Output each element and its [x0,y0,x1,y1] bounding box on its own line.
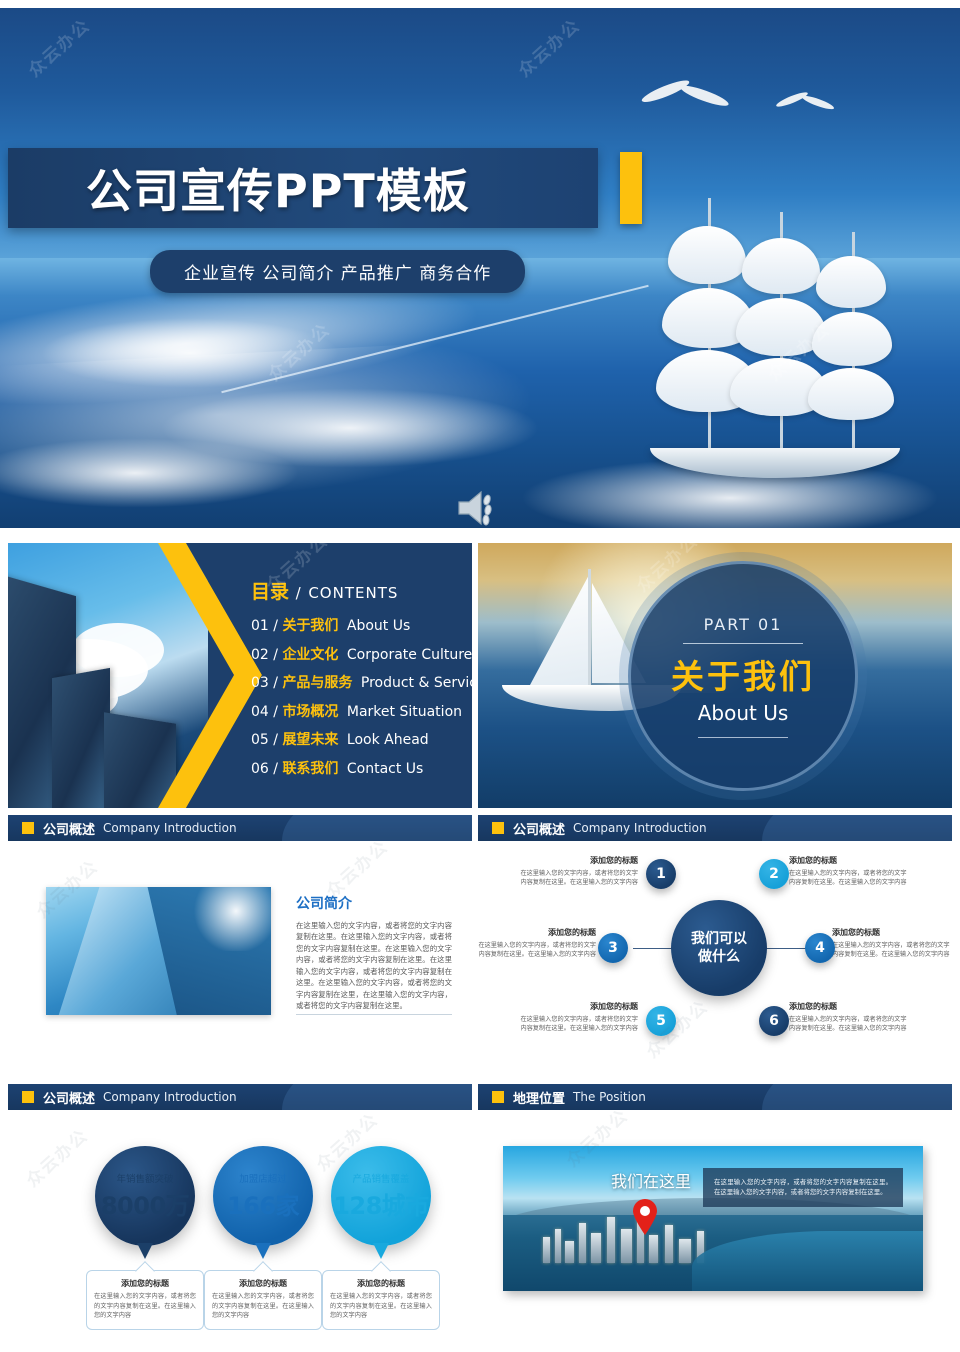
diagram-node-5[interactable]: 5 [646,1006,676,1036]
wave-foam [40,318,340,388]
slide-company-introduction: 公司概述 Company Introduction 公司简介 在这里输入您的文字… [8,815,472,1080]
wave-foam [0,438,300,508]
title-accent-bar [620,152,642,224]
diagram-node-6[interactable]: 6 [759,1006,789,1036]
contents-heading-en: CONTENTS [308,584,398,602]
connector-line [633,948,675,949]
contents-item-6[interactable]: 06 / 联系我们 Contact Us [251,758,472,778]
part-title-cn: 关于我们 [671,650,815,698]
city-aerial-photo: 我们在这里 在这里输入您的文字内容，或者将您的文字内容复制在这里。在这里输入您的… [503,1146,923,1291]
speaker-icon[interactable] [455,488,499,528]
building-photo [46,887,271,1015]
slide-title: 公司宣传PPT模板 企业宣传 公司简介 产品推广 商务合作 众云办公 众云办公 … [0,8,960,528]
diagram-hub: 我们可以 做什么 [671,900,767,996]
diagram-node-4[interactable]: 4 [805,933,835,963]
company-intro-body: 在这里输入您的文字内容，或者将您的文字内容复制在这里。在这里输入您的文字内容，或… [296,920,452,1012]
stat-bubble: 产品销售覆盖 128城市 [331,1146,431,1246]
part-badge: PART 01 关于我们 About Us [628,561,858,791]
map-pin-icon[interactable] [631,1198,659,1236]
header-square-icon [492,822,504,834]
contents-heading: 目录 / CONTENTS [251,577,472,604]
header-title-cn: 公司概述 [43,1088,95,1107]
header-square-icon [22,1091,34,1103]
part-title-en: About Us [698,701,789,725]
diagram-label-6: 添加您的标题 在这里输入您的文字内容，或者将您的文字内容复制在这里。在这里输入您… [789,1001,907,1034]
title-banner: 公司宣传PPT模板 [8,148,598,228]
contents-heading-cn: 目录 [251,581,289,603]
contents-heading-sep: / [296,584,302,602]
section-header-company-stats: 公司概述 Company Introduction [8,1084,472,1110]
company-intro-text: 公司简介 在这里输入您的文字内容，或者将您的文字内容复制在这里。在这里输入您的文… [296,893,452,1012]
hub-line-1: 我们可以 [691,930,747,948]
page-title: 公司宣传PPT模板 [86,155,470,221]
divider [698,737,788,738]
header-title-en: The Position [573,1090,646,1104]
header-title-en: Company Introduction [103,1090,237,1104]
contents-item-3[interactable]: 03 / 产品与服务 Product & Service [251,672,472,692]
divider [296,1014,452,1015]
hub-line-2: 做什么 [698,948,740,966]
contents-item-4[interactable]: 04 / 市场概况 Market Situation [251,701,472,721]
diagram-label-5: 添加您的标题 在这里输入您的文字内容，或者将您的文字内容复制在这里。在这里输入您… [520,1001,638,1034]
diagram-node-3[interactable]: 3 [598,933,628,963]
contents-item-1[interactable]: 01 / 关于我们 About Us [251,615,472,635]
stat-bubble: 年销售额突破 8000万 [95,1146,195,1246]
section-header-company-diagram: 公司概述 Company Introduction [478,815,952,841]
diagram-label-2: 添加您的标题 在这里输入您的文字内容，或者将您的文字内容复制在这里。在这里输入您… [789,855,907,888]
part-number: PART 01 [704,615,783,634]
slide-part-01: PART 01 关于我们 About Us 众云办公 [478,543,952,808]
diagram-label-3: 添加您的标题 在这里输入您的文字内容，或者将您的文字内容复制在这里。在这里输入您… [478,927,596,960]
map-note: 在这里输入您的文字内容，或者将您的文字内容复制在这里。在这里输入您的文字内容，或… [703,1168,903,1207]
diagram-node-1[interactable]: 1 [646,859,676,889]
connector-line [764,948,808,949]
stat-note: 添加您的标题 在这里输入您的文字内容，或者将您的文字内容复制在这里。在这里输入您… [86,1270,204,1330]
ppt-template-preview: 公司宣传PPT模板 企业宣传 公司简介 产品推广 商务合作 众云办公 众云办公 … [0,0,960,1352]
header-title-cn: 公司概述 [43,819,95,838]
wave-foam [160,388,540,468]
stat-card-2: 加盟店超过 166家 添加您的标题 在这里输入您的文字内容，或者将您的文字内容复… [204,1146,322,1330]
slide-position: 地理位置 The Position 我们在这里 在这里输入您的文字内 [478,1084,952,1349]
stat-note: 添加您的标题 在这里输入您的文字内容，或者将您的文字内容复制在这里。在这里输入您… [204,1270,322,1330]
company-intro-title: 公司简介 [296,893,452,913]
divider [683,643,803,644]
header-title-cn: 公司概述 [513,819,565,838]
contents-item-5[interactable]: 05 / 展望未来 Look Ahead [251,729,472,749]
header-title-en: Company Introduction [573,821,707,835]
stat-card-1: 年销售额突破 8000万 添加您的标题 在这里输入您的文字内容，或者将您的文字内… [86,1146,204,1330]
stat-note: 添加您的标题 在这里输入您的文字内容，或者将您的文字内容复制在这里。在这里输入您… [322,1270,440,1330]
header-title-en: Company Introduction [103,821,237,835]
header-square-icon [22,822,34,834]
header-title-cn: 地理位置 [513,1088,565,1107]
contents-list: 目录 / CONTENTS 01 / 关于我们 About Us 02 / 企业… [251,577,472,786]
slide-company-stats: 公司概述 Company Introduction 年销售额突破 8000万 添… [8,1084,472,1349]
header-square-icon [492,1091,504,1103]
stat-card-3: 产品销售覆盖 128城市 添加您的标题 在这里输入您的文字内容，或者将您的文字内… [322,1146,440,1330]
section-header-position: 地理位置 The Position [478,1084,952,1110]
slide-capability-diagram: 公司概述 Company Introduction 我们可以 做什么 1 2 3… [478,815,952,1080]
sailing-ship-illustration [620,198,940,498]
slide-contents: 目录 / CONTENTS 01 / 关于我们 About Us 02 / 企业… [8,543,472,808]
diagram-label-1: 添加您的标题 在这里输入您的文字内容，或者将您的文字内容复制在这里。在这里输入您… [520,855,638,888]
subtitle-pill: 企业宣传 公司简介 产品推广 商务合作 [150,250,525,293]
diagram-label-4: 添加您的标题 在这里输入您的文字内容，或者将您的文字内容复制在这里。在这里输入您… [832,927,950,960]
section-header-company-intro: 公司概述 Company Introduction [8,815,472,841]
diagram-node-2[interactable]: 2 [759,859,789,889]
contents-item-2[interactable]: 02 / 企业文化 Corporate Culture [251,644,472,664]
map-label: 我们在这里 [611,1168,691,1192]
stat-bubble: 加盟店超过 166家 [213,1146,313,1246]
